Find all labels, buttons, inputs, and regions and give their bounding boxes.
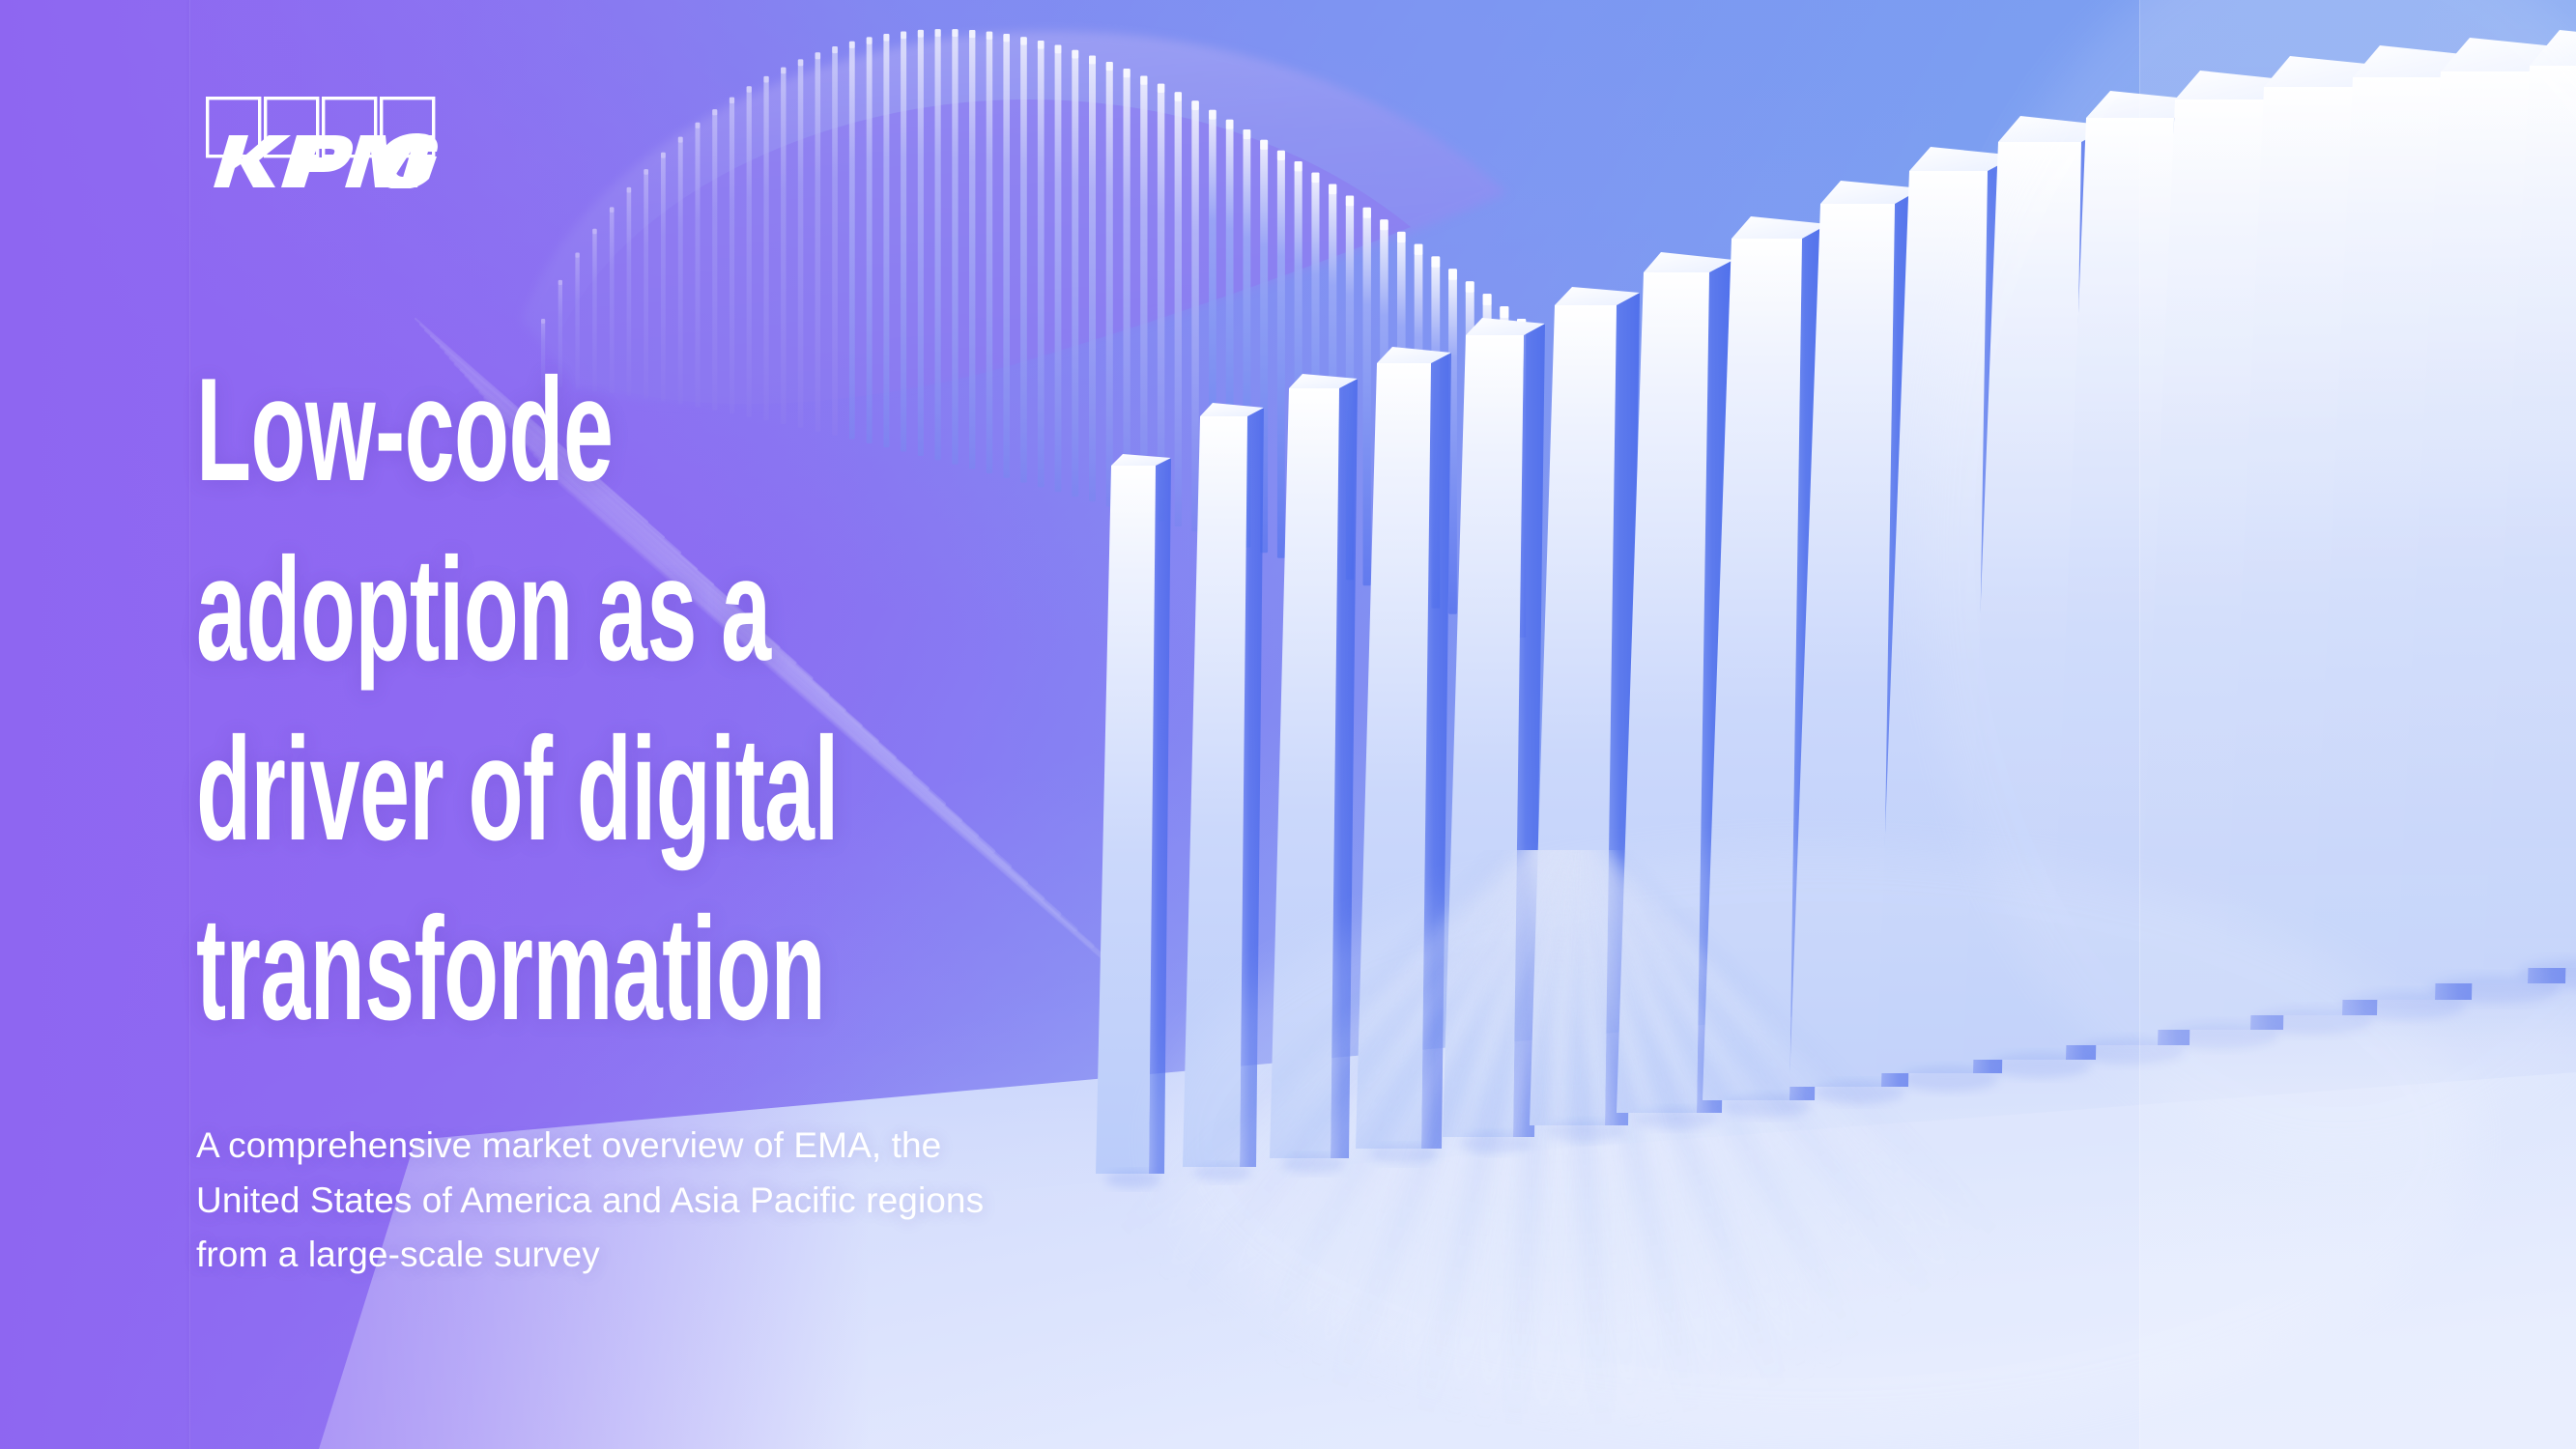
page-subtitle: A comprehensive market overview of EMA, … <box>196 1119 984 1283</box>
headline-line-2: adoption as a <box>196 520 1337 699</box>
subtitle-line-3: from a large-scale survey <box>196 1228 984 1283</box>
subtitle-line-1: A comprehensive market overview of EMA, … <box>196 1119 984 1174</box>
kpmg-logo-wordmark <box>214 133 438 188</box>
headline-line-4: transformation <box>196 879 1337 1059</box>
report-cover-page: Low-code adoption as a driver of digital… <box>0 0 2576 1449</box>
headline-line-1: Low-code <box>196 340 1337 520</box>
panel-seam-left <box>189 0 190 1449</box>
panel-seam-right <box>2139 0 2140 1449</box>
page-title: Low-code adoption as a driver of digital… <box>196 340 1337 1059</box>
subtitle-line-2: United States of America and Asia Pacifi… <box>196 1174 984 1229</box>
headline-line-3: driver of digital <box>196 699 1337 879</box>
kpmg-logo <box>206 97 444 188</box>
